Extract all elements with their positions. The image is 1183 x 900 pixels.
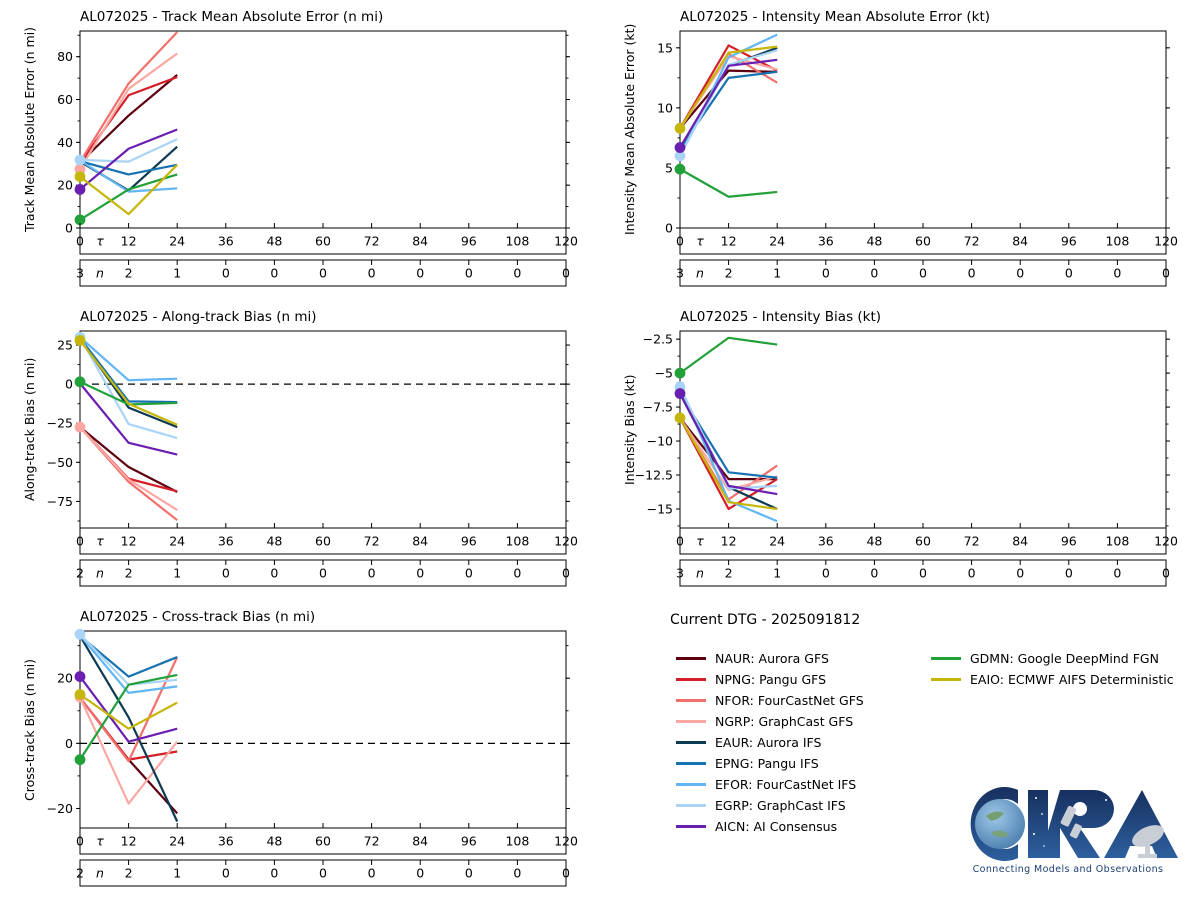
plot-frame xyxy=(80,631,566,828)
tau-tick-label: 12 xyxy=(721,534,737,549)
panel-intensity-mae: AL072025 - Intensity Mean Absolute Error… xyxy=(600,0,1183,300)
n-count-label: 2 xyxy=(76,866,84,881)
tau-symbol: τ xyxy=(96,234,104,249)
legend-color-swatch xyxy=(676,699,706,702)
panel-cross-track-bias: AL072025 - Cross-track Bias (n mi)Cross-… xyxy=(0,600,600,900)
series-marker-gdmn xyxy=(675,164,686,175)
n-symbol: n xyxy=(696,266,704,281)
tau-tick-label: 24 xyxy=(769,234,785,249)
y-tick-label: −12.5 xyxy=(635,468,673,483)
series-line-eaio xyxy=(80,340,177,424)
legend-item-eaio[interactable]: EAIO: ECMWF AIFS Deterministic xyxy=(931,669,1174,690)
y-tick-label: −15 xyxy=(647,501,673,516)
n-count-label: 0 xyxy=(319,266,327,281)
series-line-epng xyxy=(80,338,177,402)
n-count-label: 2 xyxy=(76,566,84,581)
tau-tick-label: 60 xyxy=(915,234,931,249)
legend-color-swatch xyxy=(676,741,706,744)
tau-tick-label: 96 xyxy=(1061,234,1077,249)
n-count-label: 0 xyxy=(1113,266,1121,281)
tau-tick-label: 24 xyxy=(169,534,185,549)
chart-canvas: −2.5−5−7.5−10−12.5−15τn03122241360480600… xyxy=(600,300,1183,600)
series-marker-eaio xyxy=(75,689,86,700)
series-marker-aicn xyxy=(75,184,86,195)
tau-tick-label: 60 xyxy=(315,834,331,849)
legend-item-epng[interactable]: EPNG: Pangu IFS xyxy=(676,753,864,774)
tau-tick-label: 96 xyxy=(461,234,477,249)
n-count-label: 0 xyxy=(465,566,473,581)
tau-tick-label: 72 xyxy=(964,534,980,549)
tau-tick-label: 36 xyxy=(218,234,234,249)
tau-tick-label: 60 xyxy=(915,534,931,549)
tau-tick-label: 84 xyxy=(1012,234,1028,249)
tau-tick-label: 12 xyxy=(121,534,137,549)
n-count-label: 0 xyxy=(870,566,878,581)
n-count-label: 0 xyxy=(1065,266,1073,281)
series-line-ngrp xyxy=(80,53,177,169)
legend-item-label: NPNG: Pangu GFS xyxy=(715,672,826,687)
series-line-gdmn xyxy=(680,338,777,373)
panel-along-track-bias: AL072025 - Along-track Bias (n mi)Along-… xyxy=(0,300,600,600)
y-tick-label: 20 xyxy=(57,671,73,686)
legend-item-aicn[interactable]: AICN: AI Consensus xyxy=(676,816,864,837)
tau-tick-label: 0 xyxy=(76,834,84,849)
y-tick-label: 60 xyxy=(57,92,73,107)
n-count-label: 3 xyxy=(676,266,684,281)
y-tick-label: 40 xyxy=(57,135,73,150)
tau-tick-label: 48 xyxy=(266,234,282,249)
tau-tick-label: 12 xyxy=(121,834,137,849)
n-count-label: 0 xyxy=(513,866,521,881)
chart-canvas: 020406080τn03122241360480600720840960108… xyxy=(0,0,600,300)
tau-tick-label: 108 xyxy=(1105,234,1129,249)
n-count-label: 2 xyxy=(125,866,133,881)
n-count-label: 0 xyxy=(562,266,570,281)
tau-tick-label: 12 xyxy=(721,234,737,249)
y-tick-label: 0 xyxy=(665,221,673,236)
tau-tick-label: 48 xyxy=(866,234,882,249)
tau-tick-label: 120 xyxy=(554,534,578,549)
n-count-label: 0 xyxy=(319,566,327,581)
tau-tick-label: 0 xyxy=(76,234,84,249)
n-symbol: n xyxy=(696,566,704,581)
n-count-label: 0 xyxy=(368,266,376,281)
tau-symbol: τ xyxy=(96,534,104,549)
n-count-label: 0 xyxy=(562,866,570,881)
n-count-label: 0 xyxy=(1016,266,1024,281)
tau-tick-label: 108 xyxy=(1105,534,1129,549)
tau-tick-label: 72 xyxy=(964,234,980,249)
series-marker-aicn xyxy=(675,142,686,153)
plot-frame xyxy=(80,31,566,228)
legend-column-2: GDMN: Google DeepMind FGNEAIO: ECMWF AIF… xyxy=(931,648,1174,690)
y-tick-label: 0 xyxy=(65,221,73,236)
n-count-label: 0 xyxy=(416,566,424,581)
n-count-label: 0 xyxy=(416,866,424,881)
tau-tick-label: 108 xyxy=(505,834,529,849)
legend-color-swatch xyxy=(676,825,706,828)
n-count-label: 0 xyxy=(1065,566,1073,581)
legend-item-egrp[interactable]: EGRP: GraphCast IFS xyxy=(676,795,864,816)
tau-tick-label: 72 xyxy=(364,534,380,549)
n-count-label: 0 xyxy=(513,566,521,581)
tau-tick-label: 84 xyxy=(1012,534,1028,549)
tau-tick-label: 36 xyxy=(818,534,834,549)
n-count-label: 0 xyxy=(1162,266,1170,281)
tau-tick-label: 48 xyxy=(866,534,882,549)
tau-tick-label: 120 xyxy=(554,834,578,849)
series-marker-eaio xyxy=(75,171,86,182)
y-tick-label: 80 xyxy=(57,49,73,64)
n-count-label: 0 xyxy=(968,566,976,581)
current-dtg-label: Current DTG - 2025091812 xyxy=(670,612,860,628)
y-tick-label: 15 xyxy=(657,40,673,55)
tau-symbol: τ xyxy=(96,834,104,849)
series-marker-egrp xyxy=(75,629,86,640)
n-count-label: 0 xyxy=(222,266,230,281)
n-count-label: 0 xyxy=(822,266,830,281)
tau-tick-label: 60 xyxy=(315,534,331,549)
legend-item-npng[interactable]: NPNG: Pangu GFS xyxy=(676,669,864,690)
legend-item-label: EAUR: Aurora IFS xyxy=(715,735,821,750)
tau-symbol: τ xyxy=(696,234,704,249)
legend-item-label: NFOR: FourCastNet GFS xyxy=(715,693,864,708)
n-count-label: 0 xyxy=(870,266,878,281)
tau-tick-label: 84 xyxy=(412,534,428,549)
tau-tick-label: 120 xyxy=(554,234,578,249)
legend-color-swatch xyxy=(676,657,706,660)
legend-item-label: GDMN: Google DeepMind FGN xyxy=(970,651,1159,666)
n-count-label: 0 xyxy=(513,266,521,281)
legend-item-label: EFOR: FourCastNet IFS xyxy=(715,777,856,792)
chart-canvas: 200−20τn02122241360480600720840960108012… xyxy=(0,600,600,900)
y-tick-label: −50 xyxy=(47,455,73,470)
tau-tick-label: 120 xyxy=(1154,534,1178,549)
tau-tick-label: 12 xyxy=(121,234,137,249)
y-tick-label: −75 xyxy=(47,494,73,509)
n-count-label: 0 xyxy=(416,266,424,281)
n-count-label: 1 xyxy=(773,566,781,581)
n-symbol: n xyxy=(96,266,104,281)
legend-item-gdmn[interactable]: GDMN: Google DeepMind FGN xyxy=(931,648,1174,669)
tau-tick-label: 96 xyxy=(461,534,477,549)
n-count-label: 1 xyxy=(173,566,181,581)
n-count-label: 0 xyxy=(465,866,473,881)
panel-track-mae: AL072025 - Track Mean Absolute Error (n … xyxy=(0,0,600,300)
tau-tick-label: 36 xyxy=(218,534,234,549)
legend-item-ngrp[interactable]: NGRP: GraphCast GFS xyxy=(676,711,864,732)
cira-logo: Connecting Models and Observations xyxy=(956,784,1180,888)
series-marker-eaio xyxy=(675,413,686,424)
tau-tick-label: 24 xyxy=(169,834,185,849)
y-tick-label: 20 xyxy=(57,178,73,193)
n-count-label: 2 xyxy=(725,566,733,581)
series-marker-gdmn xyxy=(675,368,686,379)
tau-tick-label: 72 xyxy=(364,834,380,849)
y-tick-label: −20 xyxy=(47,801,73,816)
series-line-ngrp xyxy=(80,697,177,803)
legend-item-eaur[interactable]: EAUR: Aurora IFS xyxy=(676,732,864,753)
tau-tick-label: 96 xyxy=(461,834,477,849)
legend-color-swatch xyxy=(676,678,706,681)
n-count-label: 0 xyxy=(222,866,230,881)
legend-item-naur[interactable]: NAUR: Aurora GFS xyxy=(676,648,864,669)
cira-wordmark-icon xyxy=(956,784,1180,864)
legend-item-label: AICN: AI Consensus xyxy=(715,819,837,834)
legend-color-swatch xyxy=(676,762,706,765)
y-tick-label: −7.5 xyxy=(643,400,673,415)
y-tick-label: −10 xyxy=(647,434,673,449)
y-tick-label: 25 xyxy=(57,338,73,353)
series-line-eaio xyxy=(680,418,777,509)
n-count-label: 0 xyxy=(968,266,976,281)
legend-item-label: NAUR: Aurora GFS xyxy=(715,651,829,666)
n-count-label: 0 xyxy=(1113,566,1121,581)
series-marker-eaio xyxy=(675,123,686,134)
chart-canvas: 051015τn03122241360480600720840960108012… xyxy=(600,0,1183,300)
series-marker-gdmn xyxy=(75,376,86,387)
n-count-label: 0 xyxy=(270,266,278,281)
series-marker-egrp xyxy=(75,155,86,166)
plot-frame xyxy=(680,31,1166,228)
n-count-label: 0 xyxy=(270,566,278,581)
y-tick-label: 5 xyxy=(665,160,673,175)
n-count-label: 0 xyxy=(919,566,927,581)
n-count-label: 0 xyxy=(368,866,376,881)
tau-tick-label: 0 xyxy=(676,534,684,549)
series-line-gdmn xyxy=(680,169,777,197)
series-line-naur xyxy=(680,418,777,479)
tau-tick-label: 84 xyxy=(412,234,428,249)
series-marker-eaio xyxy=(75,335,86,346)
n-count-label: 1 xyxy=(173,266,181,281)
tau-tick-label: 72 xyxy=(364,234,380,249)
series-line-epng xyxy=(80,636,177,677)
tau-tick-label: 48 xyxy=(266,534,282,549)
legend-color-swatch xyxy=(676,720,706,723)
series-line-npng xyxy=(680,418,777,509)
tau-tick-label: 96 xyxy=(1061,534,1077,549)
tau-tick-label: 84 xyxy=(412,834,428,849)
n-count-label: 3 xyxy=(676,566,684,581)
series-marker-aicn xyxy=(675,388,686,399)
n-count-label: 2 xyxy=(725,266,733,281)
legend-item-label: EGRP: GraphCast IFS xyxy=(715,798,846,813)
series-marker-aicn xyxy=(75,671,86,682)
n-count-label: 0 xyxy=(319,866,327,881)
n-count-label: 1 xyxy=(773,266,781,281)
n-count-label: 0 xyxy=(222,566,230,581)
tau-tick-label: 108 xyxy=(505,534,529,549)
cira-tagline: Connecting Models and Observations xyxy=(956,864,1180,875)
chart-canvas: 250−25−50−75τn02122241360480600720840960… xyxy=(0,300,600,600)
n-symbol: n xyxy=(96,866,104,881)
n-count-label: 0 xyxy=(919,266,927,281)
n-count-label: 2 xyxy=(125,566,133,581)
legend-item-label: NGRP: GraphCast GFS xyxy=(715,714,853,729)
y-tick-label: −25 xyxy=(47,416,73,431)
panel-intensity-bias: AL072025 - Intensity Bias (kt)Intensity … xyxy=(600,300,1183,600)
y-tick-label: 0 xyxy=(65,377,73,392)
series-marker-ngrp xyxy=(75,422,86,433)
n-count-label: 2 xyxy=(125,266,133,281)
n-count-label: 0 xyxy=(270,866,278,881)
legend-color-swatch xyxy=(931,657,961,660)
n-count-label: 0 xyxy=(1016,566,1024,581)
n-count-label: 3 xyxy=(76,266,84,281)
tau-tick-label: 108 xyxy=(505,234,529,249)
y-tick-label: −2.5 xyxy=(643,332,673,347)
y-tick-label: 0 xyxy=(65,736,73,751)
n-symbol: n xyxy=(96,566,104,581)
n-count-label: 0 xyxy=(822,566,830,581)
tau-tick-label: 24 xyxy=(169,234,185,249)
legend-item-label: EPNG: Pangu IFS xyxy=(715,756,819,771)
series-line-eaur xyxy=(80,339,177,427)
legend-color-swatch xyxy=(676,804,706,807)
y-tick-label: −5 xyxy=(655,366,673,381)
tau-tick-label: 0 xyxy=(676,234,684,249)
tau-tick-label: 120 xyxy=(1154,234,1178,249)
n-count-label: 0 xyxy=(1162,566,1170,581)
plot-frame xyxy=(80,331,566,528)
n-count-label: 0 xyxy=(465,266,473,281)
legend-color-swatch xyxy=(676,783,706,786)
n-count-label: 0 xyxy=(562,566,570,581)
legend-item-label: EAIO: ECMWF AIFS Deterministic xyxy=(970,672,1174,687)
legend-item-nfor[interactable]: NFOR: FourCastNet GFS xyxy=(676,690,864,711)
tau-symbol: τ xyxy=(696,534,704,549)
n-count-label: 0 xyxy=(368,566,376,581)
tau-tick-label: 0 xyxy=(76,534,84,549)
tau-tick-label: 36 xyxy=(218,834,234,849)
legend-column-1: NAUR: Aurora GFSNPNG: Pangu GFSNFOR: Fou… xyxy=(676,648,864,837)
legend-item-efor[interactable]: EFOR: FourCastNet IFS xyxy=(676,774,864,795)
tau-tick-label: 48 xyxy=(266,834,282,849)
tau-tick-label: 36 xyxy=(818,234,834,249)
series-line-epng xyxy=(80,161,177,174)
legend-color-swatch xyxy=(931,678,961,681)
series-line-nfor xyxy=(80,657,177,761)
series-line-eaio xyxy=(80,694,177,728)
n-count-label: 1 xyxy=(173,866,181,881)
tau-tick-label: 60 xyxy=(315,234,331,249)
y-tick-label: 10 xyxy=(657,100,673,115)
tau-tick-label: 24 xyxy=(769,534,785,549)
series-marker-gdmn xyxy=(75,754,86,765)
